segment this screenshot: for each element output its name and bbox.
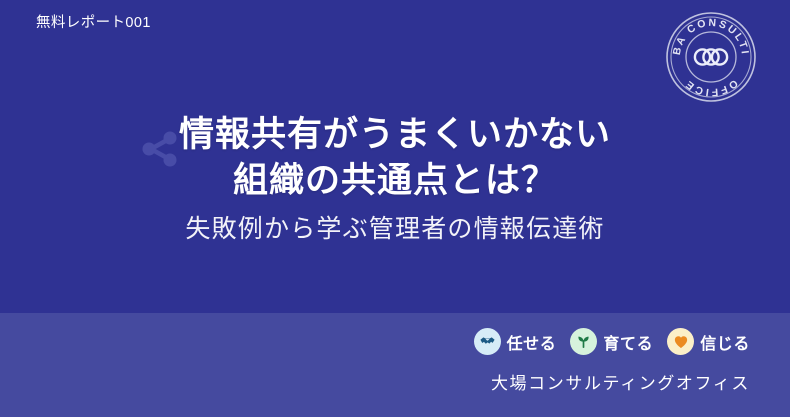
value-badge-label: 育てる — [603, 330, 653, 354]
handshake-icon — [474, 328, 501, 355]
title-line-2: 組織の共通点とは？ — [0, 158, 790, 204]
brand-name: 大場コンサルティングオフィス — [491, 369, 750, 394]
title-line-1: 情報共有がうまくいかない — [0, 112, 790, 158]
slide-title: 情報共有がうまくいかない 組織の共通点とは？ — [0, 112, 790, 204]
slide-subtitle: 失敗例から学ぶ管理者の情報伝達術 — [0, 211, 790, 247]
value-badge-sodateru: 育てる — [570, 328, 653, 355]
value-badge-makaseru: 任せる — [474, 328, 557, 355]
value-badge-row: 任せる 育てる 信じる — [474, 328, 750, 355]
report-cover-slide: 無料レポート001 OOBA CONSULTING OFFICE — [0, 0, 790, 417]
svg-text:OFFICE: OFFICE — [682, 77, 740, 98]
value-badge-shinjiru: 信じる — [667, 328, 750, 355]
value-badge-label: 信じる — [700, 330, 750, 354]
heart-icon — [667, 328, 694, 355]
report-number-label: 無料レポート001 — [36, 11, 151, 32]
ooba-consulting-office-logo: OOBA CONSULTING OFFICE — [664, 10, 758, 104]
sprout-icon — [570, 328, 597, 355]
value-badge-label: 任せる — [507, 330, 557, 354]
